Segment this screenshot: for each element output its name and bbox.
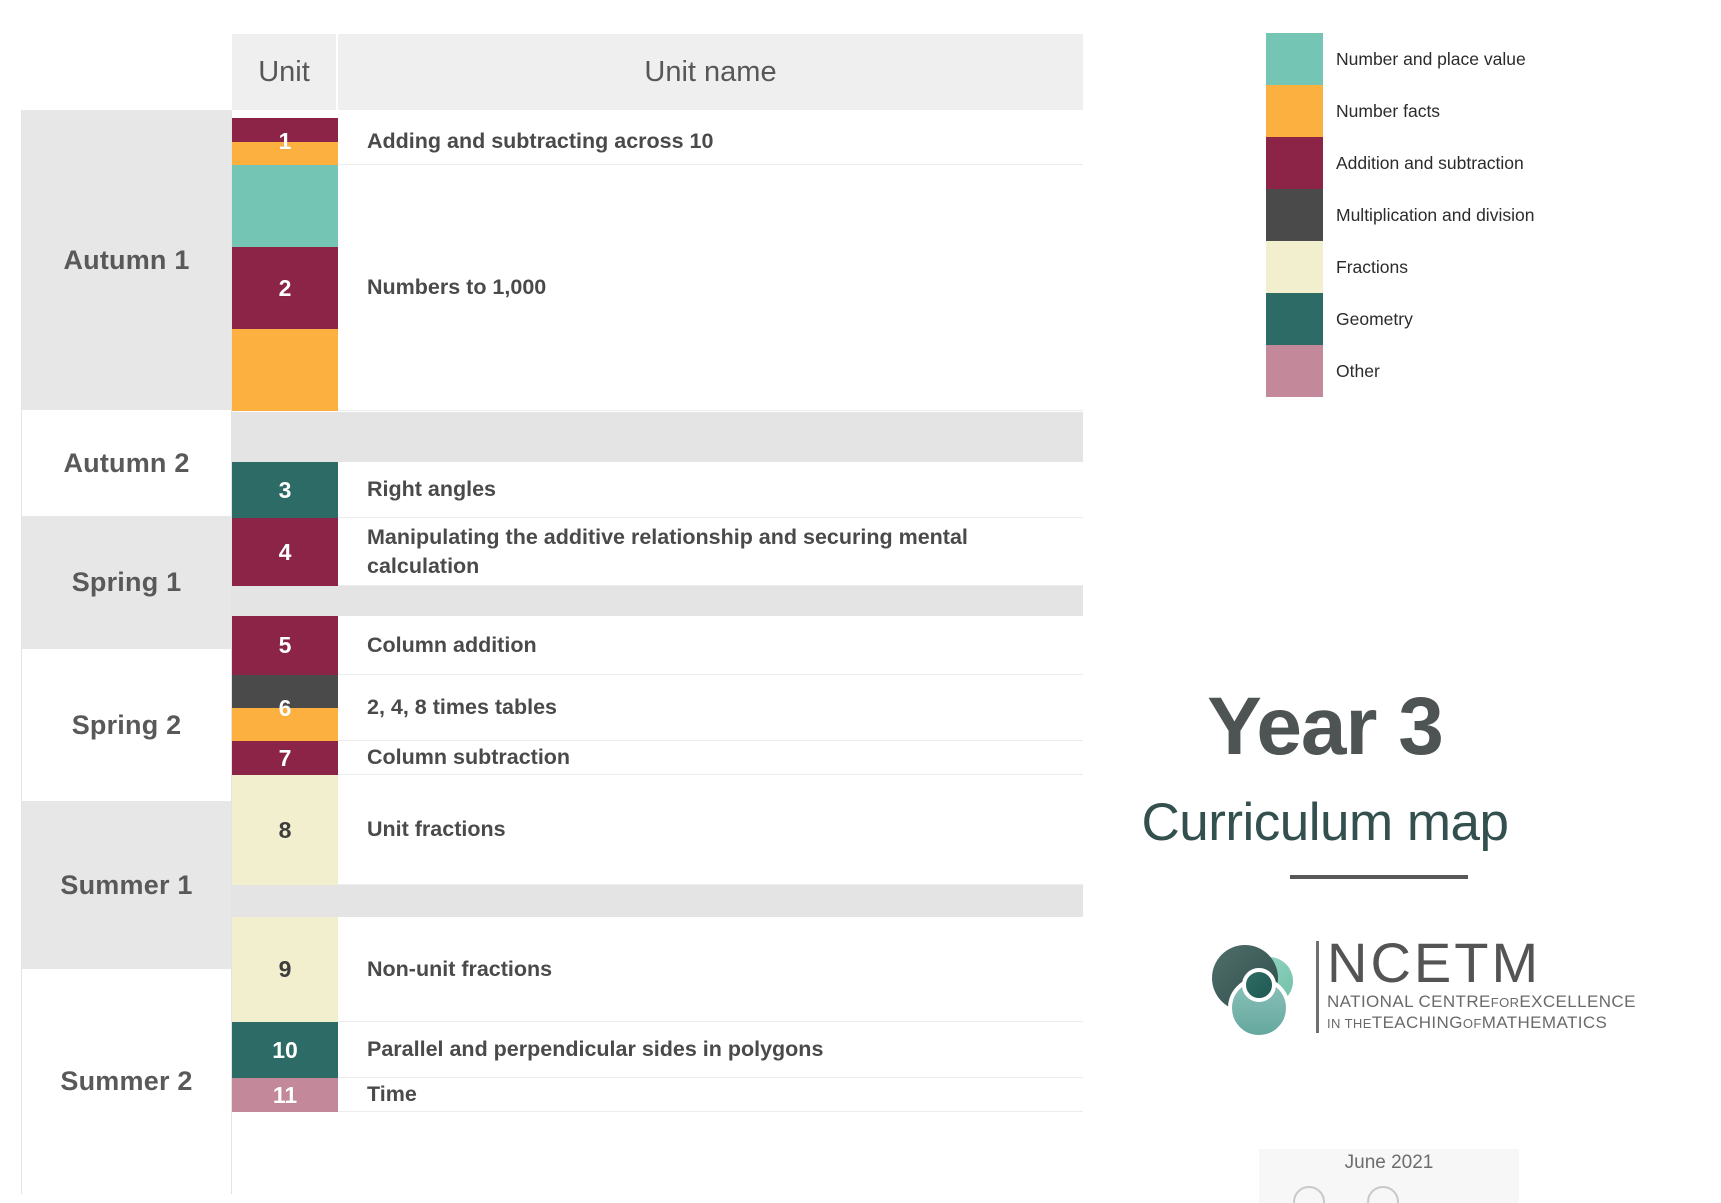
legend-label: Number facts <box>1336 101 1440 122</box>
unit-color-cell: 1 <box>232 118 338 165</box>
column-header-unit-name: Unit name <box>338 34 1083 110</box>
unit-color-cell: 5 <box>232 616 338 675</box>
unit-name-cell: Parallel and perpendicular sides in poly… <box>338 1022 1083 1078</box>
unit-name-cell: Manipulating the additive relationship a… <box>338 518 1083 586</box>
unit-color-cell: 2 <box>232 165 338 411</box>
legend-swatch <box>1266 33 1323 85</box>
unit-name-cell: Adding and subtracting across 10 <box>338 118 1083 165</box>
ncetm-tagline-line-2: IN THETEACHINGOFMATHEMATICS <box>1327 1012 1657 1033</box>
title-divider <box>1290 875 1468 879</box>
term-separator-band <box>232 412 1083 462</box>
unit-number: 9 <box>232 917 338 1022</box>
unit-number: 6 <box>232 675 338 741</box>
category-legend: Number and place valueNumber factsAdditi… <box>1266 33 1596 397</box>
term-label-spring-2: Spring 2 <box>21 649 232 801</box>
unit-name-cell: Right angles <box>338 462 1083 518</box>
legend-label: Geometry <box>1336 309 1413 330</box>
unit-color-cell: 8 <box>232 775 338 885</box>
unit-number: 11 <box>232 1078 338 1112</box>
unit-color-cell: 3 <box>232 462 338 518</box>
legend-label: Number and place value <box>1336 49 1526 70</box>
legend-swatch <box>1266 189 1323 241</box>
legend-item: Addition and subtraction <box>1266 137 1596 189</box>
logo-divider <box>1316 941 1319 1033</box>
unit-color-cell: 6 <box>232 675 338 741</box>
tagline-part: EXCELLENCE <box>1519 992 1635 1011</box>
legend-item: Fractions <box>1266 241 1596 293</box>
unit-number: 8 <box>232 775 338 885</box>
unit-number: 2 <box>232 165 338 411</box>
legend-label: Other <box>1336 361 1380 382</box>
unit-color-cell: 9 <box>232 917 338 1022</box>
curriculum-map-page: Unit Unit name Autumn 1 Autumn 2 Spring … <box>0 0 1721 1203</box>
term-separator-band <box>232 885 1083 917</box>
tagline-part: OF <box>1463 1016 1482 1031</box>
tagline-part: MATHEMATICS <box>1482 1013 1608 1032</box>
unit-name-cell: Non-unit fractions <box>338 917 1083 1022</box>
term-label-autumn-2: Autumn 2 <box>21 410 232 516</box>
legend-item: Other <box>1266 345 1596 397</box>
tagline-part: IN THE <box>1327 1016 1372 1031</box>
legend-swatch <box>1266 293 1323 345</box>
tagline-part: FOR <box>1491 995 1520 1010</box>
unit-number: 5 <box>232 616 338 675</box>
page-title-year: Year 3 <box>1100 680 1550 774</box>
legend-swatch <box>1266 345 1323 397</box>
curriculum-table-grid: Unit Unit name Autumn 1 Autumn 2 Spring … <box>21 34 1083 1194</box>
legend-item: Geometry <box>1266 293 1596 345</box>
column-header-unit: Unit <box>232 34 338 110</box>
unit-name-cell: Column subtraction <box>338 741 1083 775</box>
tagline-part: NATIONAL CENTRE <box>1327 992 1491 1011</box>
unit-number: 1 <box>232 118 338 165</box>
footer-date: June 2021 <box>1259 1152 1519 1174</box>
term-label-summer-2: Summer 2 <box>21 969 232 1194</box>
unit-color-cell: 7 <box>232 741 338 775</box>
unit-color-cell: 10 <box>232 1022 338 1078</box>
legend-label: Fractions <box>1336 257 1408 278</box>
term-separator-band <box>232 586 1083 616</box>
legend-swatch <box>1266 241 1323 293</box>
legend-swatch <box>1266 137 1323 189</box>
tagline-part: TEACHING <box>1372 1013 1463 1032</box>
ncetm-logo-text: NCETM NATIONAL CENTREFOREXCELLENCE IN TH… <box>1327 934 1657 1034</box>
legend-label: Addition and subtraction <box>1336 153 1524 174</box>
legend-item: Number facts <box>1266 85 1596 137</box>
ncetm-tagline-line-1: NATIONAL CENTREFOREXCELLENCE <box>1327 991 1657 1012</box>
unit-number: 4 <box>232 518 338 586</box>
unit-number: 10 <box>232 1022 338 1078</box>
legend-label: Multiplication and division <box>1336 205 1534 226</box>
unit-number: 3 <box>232 462 338 518</box>
unit-name-cell: Unit fractions <box>338 775 1083 885</box>
unit-name-cell: 2, 4, 8 times tables <box>338 675 1083 741</box>
legend-item: Number and place value <box>1266 33 1596 85</box>
ncetm-logo: NCETM NATIONAL CENTREFOREXCELLENCE IN TH… <box>1203 938 1543 1038</box>
page-subtitle: Curriculum map <box>1080 792 1570 853</box>
unit-name-cell: Column addition <box>338 616 1083 675</box>
term-label-autumn-1: Autumn 1 <box>21 110 232 410</box>
unit-color-cell: 11 <box>232 1078 338 1112</box>
term-label-spring-1: Spring 1 <box>21 516 232 649</box>
curriculum-table: Unit Unit name Autumn 1 Autumn 2 Spring … <box>21 34 1083 1194</box>
unit-color-cell: 4 <box>232 518 338 586</box>
unit-name-cell: Time <box>338 1078 1083 1112</box>
unit-number: 7 <box>232 741 338 775</box>
legend-swatch <box>1266 85 1323 137</box>
legend-item: Multiplication and division <box>1266 189 1596 241</box>
term-label-summer-1: Summer 1 <box>21 801 232 969</box>
ncetm-wordmark: NCETM <box>1327 934 1657 991</box>
unit-name-cell: Numbers to 1,000 <box>338 165 1083 411</box>
ncetm-logo-mark-icon <box>1203 938 1311 1038</box>
